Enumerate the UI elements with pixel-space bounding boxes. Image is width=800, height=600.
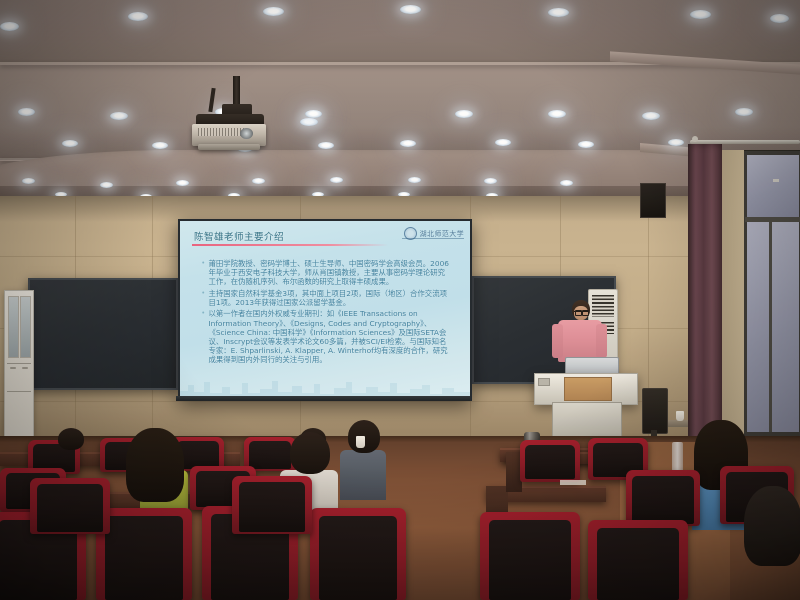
ceiling-downlight <box>0 22 19 31</box>
window-pane-lower <box>747 222 799 432</box>
notebook-paper <box>560 480 586 485</box>
window-curtain <box>688 144 722 444</box>
ceiling-downlight <box>495 139 511 146</box>
ceiling-downlight <box>176 180 189 186</box>
bullet-dot-icon: • <box>202 259 204 286</box>
bullet-text: 莆田学院教授、密码学博士、硕士生导师、中国密码学会高级会员。2006年毕业于西安… <box>208 259 452 286</box>
ceiling-downlight <box>305 110 322 118</box>
floor-speaker <box>642 388 668 434</box>
wall-mounted-speaker <box>640 183 666 218</box>
ceiling-downlight <box>484 178 497 184</box>
ceiling-downlight <box>300 118 318 126</box>
chalkboard-panel-left <box>28 278 178 390</box>
ceiling-downlight <box>252 178 265 184</box>
list-item: • 以第一作者在国内外权威专业期刊：如《IEEE Transactions on… <box>202 309 452 364</box>
bullet-text: 以第一作者在国内外权威专业期刊：如《IEEE Transactions on I… <box>208 309 452 364</box>
ceiling-downlight <box>578 141 594 148</box>
ceiling-downlight <box>455 110 473 118</box>
projection-screen: 陈智雄老师主要介绍 湖北师范大学 • 莆田学院教授、密码学博士、硕士生导师、中国… <box>178 219 472 401</box>
slide-title: 陈智雄老师主要介绍 <box>194 229 284 243</box>
presenter-arm-left <box>552 324 563 358</box>
attendee-back-left <box>58 428 84 450</box>
slide-bullet-list: • 莆田学院教授、密码学博士、硕士生导师、中国密码学会高级会员。2006年毕业于… <box>202 259 452 367</box>
wall-cabinet <box>4 290 34 437</box>
ceiling <box>0 0 800 205</box>
lectern-wood-panel <box>564 377 612 401</box>
side-window <box>742 150 800 442</box>
list-item: • 莆田学院教授、密码学博士、硕士生导师、中国密码学会高级会员。2006年毕业于… <box>202 259 452 286</box>
ceiling-downlight <box>548 110 566 118</box>
ceiling-downlight <box>128 12 148 21</box>
ceiling-downlight <box>318 142 334 149</box>
ceiling-downlight <box>408 177 421 183</box>
ceiling-downlight <box>770 14 789 23</box>
ceiling-downlight <box>330 177 343 183</box>
presenter-arm-right <box>596 324 607 358</box>
lecture-hall-scene: 陈智雄老师主要介绍 湖北师范大学 • 莆田学院教授、密码学博士、硕士生导师、中国… <box>0 0 800 600</box>
bullet-dot-icon: • <box>202 309 204 364</box>
slide-title-underline <box>192 244 388 246</box>
window-pane-upper <box>747 155 799 217</box>
ceiling-downlight <box>668 139 684 146</box>
list-item: • 主持国家自然科学基金3项，其中面上项目2项，国际（地区）合作交流项目1项。2… <box>202 289 452 307</box>
ceiling-downlight <box>22 178 35 184</box>
ceiling-downlight <box>735 108 753 116</box>
ceiling-downlight <box>62 140 78 147</box>
paper-cup <box>676 411 684 421</box>
ceiling-downlight <box>690 10 711 19</box>
university-name: 湖北师范大学 <box>420 229 464 239</box>
lectern-base <box>552 402 622 440</box>
ceiling-downlight <box>400 5 421 14</box>
ceiling-downlight <box>100 182 113 188</box>
bullet-dot-icon: • <box>202 289 204 307</box>
logo-underline <box>402 238 464 239</box>
ceiling-downlight <box>18 108 35 116</box>
ceiling-downlight <box>400 140 416 147</box>
ceiling-downlight <box>548 8 569 17</box>
ceiling-downlight <box>110 112 128 120</box>
ceiling-downlight <box>152 142 168 149</box>
ceiling-downlight <box>642 112 660 120</box>
projector-lens <box>240 128 253 139</box>
ceiling-downlight <box>263 7 284 16</box>
bullet-text: 主持国家自然科学基金3项，其中面上项目2项，国际（地区）合作交流项目1项。201… <box>208 289 452 307</box>
paper-cup <box>356 436 365 448</box>
slide-surface: 陈智雄老师主要介绍 湖北师范大学 • 莆田学院教授、密码学博士、硕士生导师、中国… <box>180 221 470 399</box>
ceiling-downlight <box>560 180 573 186</box>
